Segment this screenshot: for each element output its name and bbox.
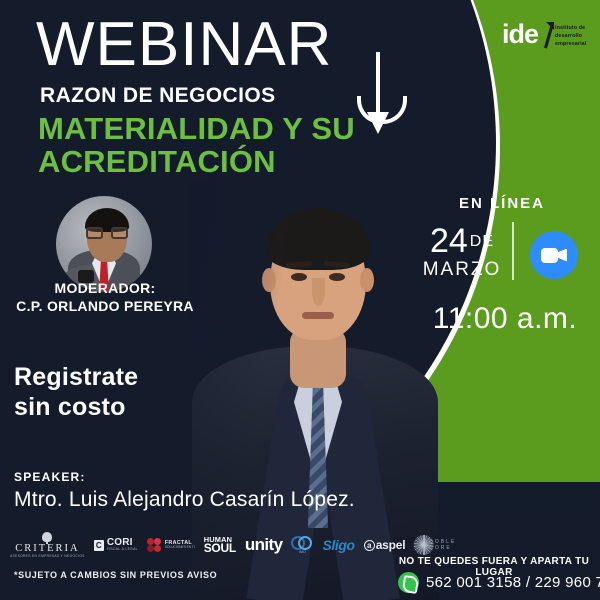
up-arrow-icon (541, 22, 552, 48)
sponsor-criteria-name: CRITERIA (15, 543, 79, 554)
ide-logo-text: ide (502, 22, 538, 48)
date-divider (512, 222, 514, 280)
event-day-suffix: DE (470, 233, 494, 250)
sponsor-doble-core-name: DOBLE CORE (429, 539, 463, 551)
event-date: 24DE MARZO (416, 222, 508, 281)
down-arrow-icon (376, 52, 380, 118)
sponsor-strip: CRITERIA ASESORES EN EMPRESAS Y NEGOCIOS… (10, 530, 400, 560)
event-day-row: 24DE (416, 222, 508, 261)
whatsapp-phone-icon[interactable] (398, 572, 419, 593)
header-topic-line2: ACREDITACIÓN (38, 145, 355, 178)
sponsor-imo: IMO (291, 536, 313, 555)
ide-logo: ide Instituto de desarrollo empresarial (502, 22, 586, 48)
footer-phone[interactable]: 562 001 3158 / 229 960 7907 (426, 574, 600, 591)
event-time: 11:00 a.m. (410, 302, 600, 336)
webinar-poster: ide Instituto de desarrollo empresarial … (0, 0, 600, 600)
event-month: MARZO (416, 259, 508, 281)
sponsor-human-soul: HUMAN SOUL (204, 536, 236, 555)
footer-disclaimer: *SUJETO A CAMBIOS SIN PREVIOS AVISO (14, 570, 217, 580)
sponsor-aspel: a aspel (364, 538, 406, 552)
sponsor-aspel-name: aspel (376, 538, 406, 552)
two-rings-icon (291, 536, 313, 550)
footer-contact[interactable]: 562 001 3158 / 229 960 7907 (398, 572, 594, 593)
sponsor-imo-name: IMO (299, 551, 306, 555)
sponsor-fractal: FRACTAL SOLUCIONES EN TI (147, 538, 195, 553)
ide-sub-line2: desarrollo (555, 33, 586, 41)
sponsor-human-soul-line2: SOUL (204, 543, 236, 554)
registration-callout: Registrate sin costo (14, 362, 138, 422)
sponsor-fractal-tagline: SOLUCIONES EN TI (165, 546, 195, 549)
glasses-icon (86, 227, 128, 239)
header-topic-line1: MATERIALIDAD Y SU (38, 112, 355, 145)
burst-icon (414, 535, 427, 555)
sponsor-sligo: Sligo (322, 537, 354, 553)
registration-line2: sin costo (14, 392, 138, 422)
sponsor-cori: C CORI FISCAL & LEGAL (94, 538, 138, 551)
speaker-name: Mtro. Luis Alejandro Casarín López. (14, 488, 355, 512)
speaker-label: SPEAKER: (14, 470, 86, 484)
sponsor-aspel-badge: a (364, 540, 375, 551)
event-day: 24 (430, 222, 468, 260)
ide-sub-line3: empresarial (555, 41, 586, 49)
sponsor-cori-badge: C (94, 540, 104, 551)
zoom-video-camera-icon[interactable] (530, 231, 578, 279)
moderator-label: MODERADOR: (12, 280, 198, 298)
sponsor-criteria: CRITERIA ASESORES EN EMPRESAS Y NEGOCIOS (10, 532, 85, 558)
sponsor-cori-tagline: FISCAL & LEGAL (107, 548, 138, 551)
tree-icon (42, 532, 52, 542)
sponsor-doble-core: DOBLE CORE (414, 535, 463, 555)
sponsor-criteria-tagline: ASESORES EN EMPRESAS Y NEGOCIOS (10, 554, 85, 558)
four-circles-icon (147, 538, 162, 553)
moderator-avatar (56, 196, 152, 292)
sponsor-unity: unity (245, 535, 283, 555)
ide-sub-line1: Instituto de (555, 25, 586, 33)
header-subtitle: RAZON DE NEGOCIOS (40, 84, 275, 108)
event-modality: EN LÍNEA (432, 195, 572, 212)
moderator-name: C.P. ORLANDO PEREYRA (12, 298, 198, 316)
registration-line1: Registrate (14, 362, 138, 392)
header-topic: MATERIALIDAD Y SU ACREDITACIÓN (38, 112, 355, 179)
ide-logo-subtitle: Instituto de desarrollo empresarial (555, 22, 586, 48)
moderator-caption: MODERADOR: C.P. ORLANDO PEREYRA (12, 280, 198, 315)
page-title: WEBINAR (36, 14, 332, 76)
